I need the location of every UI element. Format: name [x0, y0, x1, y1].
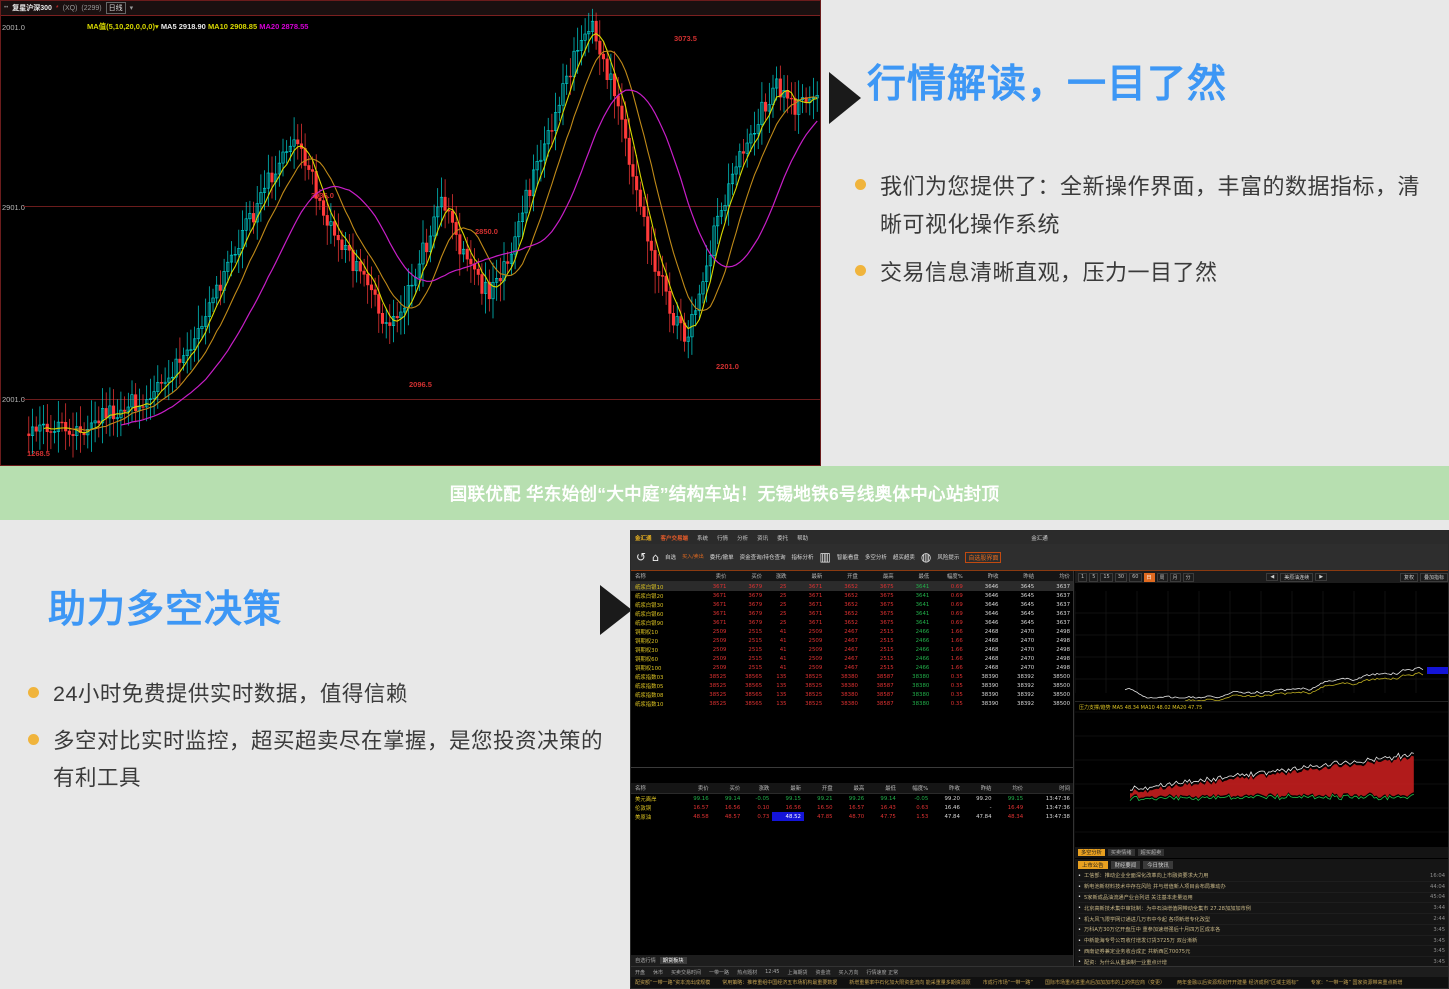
timeframe-button-5[interactable]: 5 [1089, 573, 1098, 582]
cell-pclose: 47.84 [931, 812, 963, 821]
cell-pclose: 99.20 [931, 794, 963, 804]
overlay-indicator-field[interactable]: 叠加指标 [1420, 573, 1448, 582]
cell-name: 铜期权20 [631, 636, 694, 645]
cell-high: 38587 [861, 672, 897, 681]
cell-sell: 2509 [694, 645, 730, 654]
cell-high: 2515 [861, 636, 897, 645]
cell-avg: 2498 [1037, 636, 1073, 645]
cell-pclose: 3646 [966, 609, 1002, 618]
callout-arrow-icon [600, 585, 632, 635]
ticker-item: 配资额“一带一路”资本流出成规模 [635, 979, 710, 986]
cell-avg: 38500 [1037, 672, 1073, 681]
news-title: 北京高新技术集中审批制：为中石油增值网带动全集市 27.28加加加市例 [1084, 905, 1429, 912]
cell-high: 38587 [861, 690, 897, 699]
cell-chg: 135 [765, 699, 789, 708]
top-headline: 行情解读，一目了然 [867, 64, 1427, 107]
table-row[interactable]: 铜期权20250925154125092467251524661.6624682… [631, 636, 1073, 645]
table-row[interactable]: 纸浆指数053852538565135385253838038587383800… [631, 681, 1073, 690]
cell-sell: 38525 [694, 699, 730, 708]
toolbar-order-cancel[interactable]: 委托/撤单 [710, 553, 734, 561]
symbol-selector[interactable]: 美原油连续 [1280, 573, 1313, 582]
kline-chart-panel[interactable]: •• 复星沪深300 * (XQ) (2299) 日线 ▾ MA值(5,10,2… [0, 0, 821, 466]
cell-chg: 135 [765, 681, 789, 690]
news-title: 5家新成品油流通产业合列进 关注基本走量运用 [1084, 894, 1426, 901]
column-header[interactable]: 涨跌 [765, 571, 789, 582]
column-header[interactable]: 幅度% [899, 783, 931, 794]
status-item: 开盘 [635, 969, 645, 976]
adjust-field[interactable]: 复权 [1400, 573, 1418, 582]
toolbar-smart-board[interactable]: 智能看盘 [837, 553, 859, 561]
timeframe-bar[interactable]: 15153060日周月分 ◀ 美原油连续 ▶ 复权 叠加指标 [1075, 571, 1448, 583]
bullet-text: 24小时免费提供实时数据，值得信赖 [53, 676, 408, 713]
table-row[interactable]: 纸浆白银90367136792536713652367536410.693646… [631, 618, 1073, 627]
cell-pct: 1.66 [932, 636, 965, 645]
cell-last: 38525 [790, 699, 826, 708]
timeframe-button-15[interactable]: 15 [1100, 573, 1112, 582]
bullet-dot-icon: • [1078, 959, 1081, 965]
column-header[interactable]: 名称 [631, 783, 680, 794]
cell-pct: 0.35 [932, 690, 965, 699]
cell-sell: 3671 [694, 582, 730, 592]
cell-open: 38380 [825, 672, 861, 681]
menu-item-orders[interactable]: 委托 [777, 534, 788, 542]
column-header[interactable]: 卖价 [680, 783, 712, 794]
cell-high: 38587 [861, 699, 897, 708]
news-panel[interactable]: 上市公告 财经要闻 今日快讯 •工信部：推动企业全面深化改革向上市融资要求大力用… [1075, 859, 1448, 966]
cell-sell: 38525 [694, 672, 730, 681]
cell-high: 16.57 [836, 803, 868, 812]
alert-icon[interactable]: ◍ [921, 551, 931, 563]
cell-pct: 1.66 [932, 627, 965, 636]
table-row[interactable]: 纸浆白银10367136792536713652367536410.693646… [631, 582, 1073, 592]
cell-high: 38587 [861, 681, 897, 690]
cell-buy: 3679 [729, 582, 765, 592]
news-title: 工信部：推动企业全面深化改革向上市融资要求大力用 [1084, 872, 1426, 879]
table-header-row: 名称卖价买价涨跌最新开盘最高最低幅度%昨收昨结均价 [631, 571, 1073, 582]
bullet-dot-icon: • [1078, 884, 1081, 890]
cell-low: 3641 [897, 591, 933, 600]
cell-open: 38380 [825, 690, 861, 699]
column-header[interactable]: 昨收 [931, 783, 963, 794]
app-toolbar: ↺ ⌂ 自选 买入/卖出 委托/撤单 资金查询/持仓查询 指标分析 ▥ 智能看盘… [631, 544, 1448, 571]
cell-low: 38380 [897, 672, 933, 681]
long-short-chart: 压力支撑/趋势 MA5 48.34 MA10 48.02 MA20 47.75 [1075, 701, 1448, 846]
cell-pct: 0.69 [932, 591, 965, 600]
trading-app-screenshot[interactable]: 金汇通 客户交易端 系统 行情 分析 资讯 委托 帮助 金汇通 ↺ ⌂ 自选 买… [630, 530, 1449, 989]
cell-name: 美原油 [631, 812, 680, 821]
cell-pct: 0.69 [932, 609, 965, 618]
cell-psettle: 2470 [1001, 654, 1037, 663]
news-title: 配资：为什么从重油制一业重点计增 [1084, 959, 1429, 966]
bullet-dot-icon: • [1078, 938, 1081, 944]
timeframe-button-月[interactable]: 月 [1170, 573, 1181, 582]
tab-finance-headlines[interactable]: 财经要闻 [1111, 861, 1141, 869]
cell-name: 美元离岸 [631, 794, 680, 804]
news-time: 3:45 [1433, 927, 1445, 933]
news-time: 3:45 [1433, 948, 1445, 954]
cell-low: 38380 [897, 681, 933, 690]
timeframe-button-日[interactable]: 日 [1144, 573, 1155, 582]
cell-chg: 41 [765, 654, 789, 663]
cell-buy: 2515 [729, 636, 765, 645]
cell-pclose: 38390 [966, 681, 1002, 690]
cell-last: 16.56 [772, 803, 804, 812]
cell-buy: 2515 [729, 627, 765, 636]
cell-pclose: 3646 [966, 600, 1002, 609]
cell-avg: 3637 [1037, 591, 1073, 600]
tab-listed-announcements[interactable]: 上市公告 [1078, 861, 1108, 869]
list-item: 交易信息清晰直观，压力一目了然 [855, 254, 1435, 292]
cell-sell: 38525 [694, 681, 730, 690]
chart-panel-right[interactable]: 15153060日周月分 ◀ 美原油连续 ▶ 复权 叠加指标 [1075, 571, 1448, 966]
column-header[interactable]: 最新 [790, 571, 826, 582]
news-title: 西南证券兼定业务收合成正 共新西区70075元 [1084, 948, 1429, 955]
cell-pct: 1.66 [932, 663, 965, 672]
cell-high: 2515 [861, 627, 897, 636]
column-header[interactable]: 开盘 [825, 571, 861, 582]
app-brand-label: 金汇通 [635, 534, 652, 542]
toolbar-indicator-analysis[interactable]: 指标分析 [791, 553, 813, 561]
cell-buy: 38565 [729, 699, 765, 708]
cell-chg: 0.73 [743, 812, 772, 821]
cell-name: 铜期权10 [631, 627, 694, 636]
cell-name: 纸浆白银10 [631, 582, 694, 592]
column-header[interactable]: 买价 [712, 783, 744, 794]
cell-low: 99.14 [867, 794, 899, 804]
list-item: 我们为您提供了：全新操作界面，丰富的数据指标，清晰可视化操作系统 [855, 168, 1435, 244]
callout-arrow-icon [829, 72, 861, 124]
cell-avg: 3637 [1037, 618, 1073, 627]
cell-high: 99.26 [836, 794, 868, 804]
cell-name: 铜期权60 [631, 654, 694, 663]
news-item[interactable]: •西南证券兼定业务收合成正 共新西区70075元3:45 [1078, 946, 1445, 957]
cell-chg: 135 [765, 690, 789, 699]
cell-open: 2467 [825, 663, 861, 672]
cell-avg: 2498 [1037, 645, 1073, 654]
timeframe-button-30[interactable]: 30 [1115, 573, 1127, 582]
cell-sell: 2509 [694, 663, 730, 672]
cell-sell: 38525 [694, 690, 730, 699]
status-item: 12:45 [765, 969, 779, 976]
cell-open: 3652 [825, 618, 861, 627]
long-short-legend: 压力支撑/趋势 MA5 48.34 MA10 48.02 MA20 47.75 [1079, 704, 1202, 711]
cell-buy: 3679 [729, 591, 765, 600]
bullet-text: 我们为您提供了：全新操作界面，丰富的数据指标，清晰可视化操作系统 [880, 168, 1435, 244]
indicator-tab-strip[interactable]: 多空分析 买卖情绪 超买超卖 [1075, 847, 1448, 858]
cell-high: 2515 [861, 654, 897, 663]
status-item: 行情速度 正常 [867, 969, 899, 976]
cell-name: 纸浆白银60 [631, 609, 694, 618]
cell-name: 纸浆指数05 [631, 681, 694, 690]
news-title: 机大风飞限学网订通进几万市中今起 各项新增专化改型 [1084, 916, 1429, 923]
quote-table[interactable]: 名称卖价买价涨跌最新开盘最高最低幅度%昨收昨结均价 纸浆白银1036713679… [631, 571, 1073, 708]
bullet-dot-icon: • [1078, 916, 1081, 922]
table-row[interactable]: 铜期权60250925154125092467251524661.6624682… [631, 654, 1073, 663]
cell-last: 48.52 [772, 812, 804, 821]
news-item[interactable]: •新电池新材料技术中存在风险 并与增值新人项目会布局推动办44:04 [1078, 882, 1445, 893]
table-row[interactable]: 纸浆指数033852538565135385253838038587383800… [631, 672, 1073, 681]
cell-high: 3675 [861, 600, 897, 609]
column-header[interactable]: 最高 [861, 571, 897, 582]
cell-last: 2509 [790, 645, 826, 654]
ticker-item: 国际市场重点进重点后加加加市的上的供应商（变更） [1045, 979, 1165, 986]
menu-item-news[interactable]: 资讯 [757, 534, 768, 542]
cell-pct: 1.53 [899, 812, 931, 821]
cell-avg: 3637 [1037, 609, 1073, 618]
timeframe-button-1[interactable]: 1 [1078, 573, 1087, 582]
table-row[interactable]: 美元离岸99.1699.14-0.0599.1599.2199.2699.14-… [631, 794, 1073, 804]
column-header[interactable]: 名称 [631, 571, 694, 582]
cell-low: 47.75 [867, 812, 899, 821]
cell-psettle: 3645 [1001, 618, 1037, 627]
cell-sell: 2509 [694, 636, 730, 645]
news-title: 中新能海专号公司收付增发订货3725万 双台漸新 [1084, 937, 1429, 944]
list-item: 24小时免费提供实时数据，值得信赖 [28, 676, 618, 713]
cell-open: 3652 [825, 609, 861, 618]
cell-high: 3675 [861, 582, 897, 592]
toolbar-buy-sell-label: 买入/卖出 [682, 554, 704, 560]
cell-pct: 0.69 [932, 618, 965, 627]
table-row[interactable]: 美原油48.5848.570.7348.5247.8548.7047.751.5… [631, 812, 1073, 821]
menu-item-quotes[interactable]: 行情 [717, 534, 728, 542]
cell-open: 47.85 [804, 812, 836, 821]
cell-high: 48.70 [836, 812, 868, 821]
bullet-text: 多空对比实时监控，超买超卖尽在掌握，是您投资决策的有利工具 [53, 723, 618, 797]
status-item: 一带一路 [709, 969, 729, 976]
cell-buy: 2515 [729, 645, 765, 654]
cell-psettle: 2470 [1001, 663, 1037, 672]
cell-low: 3641 [897, 609, 933, 618]
tab-trade-sentiment[interactable]: 买卖情绪 [1108, 849, 1135, 856]
detail-table[interactable]: 名称卖价买价涨跌最新开盘最高最低幅度%昨收昨结均价时间 美元离岸99.1699.… [631, 783, 1073, 821]
app-news-ticker: 配资额“一带一路”资本流出成规模常用策略：推荐重组中国经济五市场机构最重要数据新… [631, 977, 1448, 988]
news-time: 45:04 [1430, 894, 1445, 900]
cell-open: 3652 [825, 591, 861, 600]
column-header[interactable]: 买价 [729, 571, 765, 582]
bullet-dot-icon [855, 265, 866, 276]
news-item[interactable]: •工信部：推动企业全面深化改革向上市融资要求大力用16:04 [1078, 871, 1445, 882]
cell-pclose: 3646 [966, 618, 1002, 627]
top-bullet-list: 我们为您提供了：全新操作界面，丰富的数据指标，清晰可视化操作系统 交易信息清晰直… [855, 168, 1435, 301]
cell-time: 13:47:36 [1026, 794, 1073, 804]
news-item[interactable]: •中新能海专号公司收付增发订货3725万 双台漸新3:45 [1078, 936, 1445, 947]
ticker-item: 专家：“一带一路” 国家资源带来重点新增 [1311, 979, 1403, 986]
cell-chg: 25 [765, 600, 789, 609]
table-row[interactable]: 伦敦铜16.5716.560.1016.5616.5016.5716.430.6… [631, 803, 1073, 812]
cell-low: 38380 [897, 690, 933, 699]
cell-avg: 3637 [1037, 582, 1073, 592]
cell-pclose: 38390 [966, 699, 1002, 708]
cell-buy: 3679 [729, 618, 765, 627]
news-title: 万科A方30万亿开盘压中 重参加速增强后十月四方区成本各 [1084, 926, 1429, 933]
bullet-dot-icon: • [1078, 894, 1081, 900]
cell-psettle: 3645 [1001, 600, 1037, 609]
bottom-bullet-list: 24小时免费提供实时数据，值得信赖 多空对比实时监控，超买超卖尽在掌握，是您投资… [28, 676, 618, 807]
timeframe-button-60[interactable]: 60 [1129, 573, 1141, 582]
cell-avg: 99.15 [995, 794, 1027, 804]
toolbar-funds-positions[interactable]: 资金查询/持仓查询 [740, 553, 786, 561]
cell-open: 3652 [825, 600, 861, 609]
table-row[interactable]: 铜期权100250925154125092467251524661.662468… [631, 663, 1073, 672]
ticker-item: 常用策略：推荐重组中国经济五市场机构最重要数据 [722, 979, 837, 986]
cell-avg: 2498 [1037, 627, 1073, 636]
cell-last: 2509 [790, 627, 826, 636]
bullet-dot-icon [855, 179, 866, 190]
status-item: 上海期货 [788, 969, 808, 976]
cell-chg: 25 [765, 582, 789, 592]
news-item[interactable]: •万科A方30万亿开盘压中 重参加速增强后十月四方区成本各3:45 [1078, 925, 1445, 936]
column-header[interactable]: 昨结 [1001, 571, 1037, 582]
mini-price-chart [1075, 583, 1448, 701]
cell-last: 38525 [790, 681, 826, 690]
cell-open: 2467 [825, 636, 861, 645]
next-symbol-button[interactable]: ▶ [1315, 573, 1327, 581]
table-row[interactable]: 纸浆指数083852538565135385253838038587383800… [631, 690, 1073, 699]
menu-item-analysis[interactable]: 分析 [737, 534, 748, 542]
status-item: 买卖交易时间 [671, 969, 701, 976]
cell-high: 2515 [861, 663, 897, 672]
timeframe-button-分[interactable]: 分 [1183, 573, 1194, 582]
prev-symbol-button[interactable]: ◀ [1266, 573, 1278, 581]
column-header[interactable]: 最新 [772, 783, 804, 794]
cell-pclose: 2468 [966, 654, 1002, 663]
cell-chg: 0.10 [743, 803, 772, 812]
menu-item-system[interactable]: 系统 [697, 534, 708, 542]
column-header[interactable]: 涨跌 [743, 783, 772, 794]
cell-low: 2466 [897, 645, 933, 654]
news-time: 16:04 [1430, 873, 1445, 879]
toolbar-watchlist[interactable]: 自选 [665, 553, 676, 561]
cell-sell: 2509 [694, 654, 730, 663]
cell-psettle: - [963, 803, 995, 812]
cell-name: 纸浆指数10 [631, 699, 694, 708]
cell-avg: 2498 [1037, 663, 1073, 672]
cell-pct: 0.63 [899, 803, 931, 812]
cell-psettle: 3645 [1001, 591, 1037, 600]
back-icon[interactable]: ↺ [636, 551, 646, 563]
cell-chg: 135 [765, 672, 789, 681]
cell-pct: 0.69 [932, 582, 965, 592]
column-header[interactable]: 卖价 [694, 571, 730, 582]
cell-buy: 16.56 [712, 803, 744, 812]
cell-chg: -0.05 [743, 794, 772, 804]
toolbar-risk-warning[interactable]: 风险提示 [937, 553, 959, 561]
column-header[interactable]: 昨收 [966, 571, 1002, 582]
cell-last: 3671 [790, 600, 826, 609]
news-item[interactable]: •机大风飞限学网订通进几万市中今起 各项新增专化改型2:44 [1078, 914, 1445, 925]
cell-name: 铜期权30 [631, 645, 694, 654]
table-row[interactable]: 纸浆白银30367136792536713652367536410.693646… [631, 600, 1073, 609]
news-item[interactable]: •北京高新技术集中审批制：为中石油增值网带动全集市 27.28加加加市例3:44 [1078, 903, 1445, 914]
cell-buy: 2515 [729, 654, 765, 663]
cell-pct: 0.35 [932, 672, 965, 681]
cell-last: 3671 [790, 582, 826, 592]
column-header[interactable]: 均价 [995, 783, 1027, 794]
cell-low: 3641 [897, 582, 933, 592]
app-brand2-label: 客户交易端 [661, 534, 689, 542]
toolbar-buy-sell[interactable]: 买入/卖出 [682, 554, 704, 560]
cell-pclose: 2468 [966, 627, 1002, 636]
tab-long-short-analysis[interactable]: 多空分析 [1078, 849, 1105, 856]
column-header[interactable]: 最低 [867, 783, 899, 794]
table-row[interactable]: 纸浆白银20367136792536713652367536410.693646… [631, 591, 1073, 600]
cell-psettle: 38392 [1001, 690, 1037, 699]
column-header[interactable]: 最低 [897, 571, 933, 582]
table-row[interactable]: 纸浆指数103852538565135385253838038587383800… [631, 699, 1073, 708]
column-header[interactable]: 最高 [836, 783, 868, 794]
cell-pct: -0.05 [899, 794, 931, 804]
quote-tab-strip[interactable]: 自选行情 期货板块 [631, 955, 1073, 966]
table-row[interactable]: 铜期权10250925154125092467251524661.6624682… [631, 627, 1073, 636]
promo-banner[interactable]: 国联优配 华东始创“大中庭”结构车站！无锡地铁6号线奥体中心站封顶 [0, 466, 1449, 520]
news-time: 2:44 [1433, 916, 1445, 922]
toolbar-long-short[interactable]: 多空分析 [865, 553, 887, 561]
cell-last: 38525 [790, 690, 826, 699]
cell-open: 2467 [825, 645, 861, 654]
status-item: 热点题材 [737, 969, 757, 976]
cell-buy: 3679 [729, 609, 765, 618]
cell-avg: 38500 [1037, 699, 1073, 708]
cell-buy: 48.57 [712, 812, 744, 821]
cell-avg: 3637 [1037, 600, 1073, 609]
column-header[interactable]: 均价 [1037, 571, 1073, 582]
chart-icon[interactable]: ▥ [819, 551, 830, 563]
table-row[interactable]: 铜期权30250925154125092467251524661.6624682… [631, 645, 1073, 654]
status-item: 休市 [653, 969, 663, 976]
mini-chart-svg [1075, 583, 1449, 701]
cell-low: 2466 [897, 636, 933, 645]
table-divider [631, 767, 1073, 768]
news-item[interactable]: •5家新成品油流通产业合列进 关注基本走量运用45:04 [1078, 893, 1445, 904]
cell-last: 2509 [790, 636, 826, 645]
toolbar-overbought[interactable]: 超买超卖 [893, 553, 915, 561]
tab-overbought-oversold[interactable]: 超买超卖 [1138, 849, 1165, 856]
cell-last: 38525 [790, 672, 826, 681]
ticker-item: 两年金融以后资源规划开开建量 经济成例“区域主题标” [1177, 979, 1299, 986]
column-header[interactable]: 昨结 [963, 783, 995, 794]
cell-pct: 0.69 [932, 600, 965, 609]
cell-last: 3671 [790, 591, 826, 600]
tab-watchlist[interactable]: 自选行情 [635, 957, 656, 964]
news-tab-strip[interactable]: 上市公告 财经要闻 今日快讯 [1078, 861, 1445, 869]
cell-last: 3671 [790, 609, 826, 618]
app-titlebar: 金汇通 客户交易端 系统 行情 分析 资讯 委托 帮助 [631, 531, 1448, 544]
bullet-dot-icon: • [1078, 873, 1081, 879]
column-header[interactable]: 幅度% [932, 571, 965, 582]
home-icon[interactable]: ⌂ [652, 551, 659, 564]
cell-open: 2467 [825, 654, 861, 663]
cell-last: 99.15 [772, 794, 804, 804]
cell-pct: 0.35 [932, 681, 965, 690]
status-item: 买入方向 [839, 969, 859, 976]
cell-open: 38380 [825, 681, 861, 690]
cell-avg: 16.49 [995, 803, 1027, 812]
cell-low: 2466 [897, 654, 933, 663]
column-header[interactable]: 开盘 [804, 783, 836, 794]
table-row[interactable]: 纸浆白银60367136792536713652367536410.693646… [631, 609, 1073, 618]
tab-today-flash[interactable]: 今日快讯 [1143, 861, 1173, 869]
quote-panel[interactable]: 名称卖价买价涨跌最新开盘最高最低幅度%昨收昨结均价 纸浆白银1036713679… [631, 571, 1074, 966]
news-title: 新电池新材料技术中存在风险 并与增值新人项目会布局推动办 [1084, 883, 1426, 890]
cell-sell: 3671 [694, 618, 730, 627]
menu-item-help[interactable]: 帮助 [797, 534, 808, 542]
column-header[interactable]: 时间 [1026, 783, 1073, 794]
tab-futures-sector[interactable]: 期货板块 [660, 957, 687, 964]
cell-name: 纸浆指数08 [631, 690, 694, 699]
toolbar-screen-chip[interactable]: 自选股界面 [965, 552, 1001, 563]
bullet-dot-icon: • [1078, 927, 1081, 933]
timeframe-button-周[interactable]: 周 [1157, 573, 1168, 582]
